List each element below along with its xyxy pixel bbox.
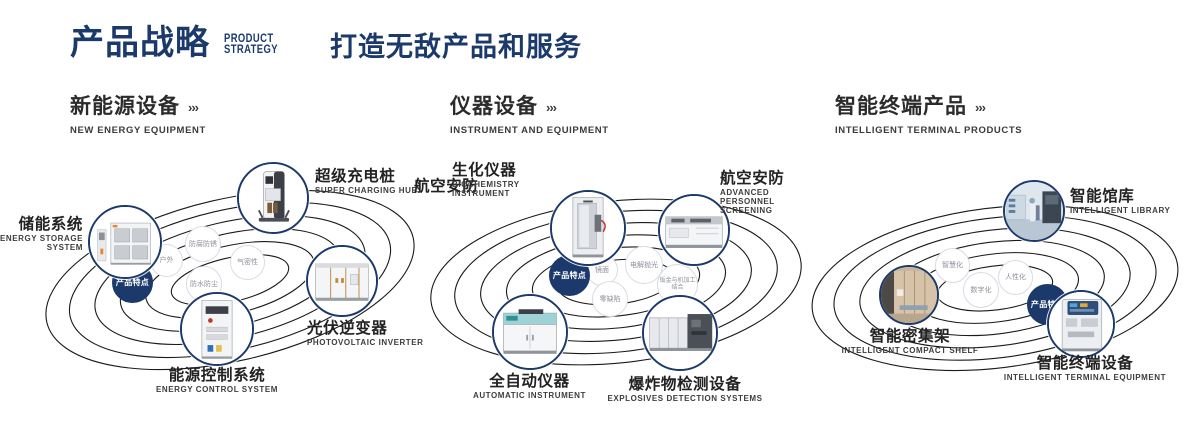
node-circle-terminal-equipment[interactable] (1047, 290, 1115, 358)
control-cabinet-icon (182, 294, 252, 364)
compact-shelf-icon (881, 267, 937, 323)
node-circle-automatic-instrument[interactable] (492, 294, 568, 370)
section-title-en: INTELLIGENT TERMINAL PRODUCTS (835, 125, 1022, 136)
node-circle-energy-control[interactable] (180, 292, 254, 366)
poster-subtitle: 打造无敌产品和服务 (330, 34, 582, 61)
inverter-cabinet-icon (308, 247, 376, 315)
diagram-new-energy: 防腐防锈 户外 气密性 防水防尘 产品特点 储能系统 ENERGY STOR (40, 160, 420, 390)
poster-title-en-line1: PRODUCT (224, 34, 278, 46)
poster-header: 产品战略 PRODUCT STRATEGY (70, 26, 290, 60)
section-heading-instrument: 仪器设备››› INSTRUMENT AND EQUIPMENT (450, 96, 609, 136)
diagram-instrument: 航空安防 电解抛光 镜面 钣金与机加工结合 零缺陷 产品特点 生化仪器 BIOC… (420, 160, 810, 390)
chevron-triple-icon: ››› (188, 100, 198, 115)
node-label-terminal-equipment: 智能终端设备 INTELLIGENT TERMINAL EQUIPMENT (975, 355, 1195, 383)
node-circle-energy-storage[interactable] (88, 205, 162, 279)
feature-bubble: 零缺陷 (592, 281, 628, 317)
security-scanner-icon (552, 192, 624, 264)
node-label-intelligent-library: 智能馆库 INTELLIGENT LIBRARY (1070, 188, 1200, 216)
section-title-en: INSTRUMENT AND EQUIPMENT (450, 125, 609, 136)
screening-machine-icon (660, 196, 728, 264)
auto-analyzer-icon (494, 296, 566, 368)
charging-pile-icon (239, 164, 307, 232)
chevron-triple-icon: ››› (975, 100, 985, 115)
kiosk-terminal-icon (1049, 292, 1113, 356)
battery-cabinet-icon (90, 207, 160, 277)
node-label-compact-shelf: 智能密集架 INTELLIGENT COMPACT SHELF (785, 328, 1035, 356)
feature-bubble: 智慧化 (935, 248, 970, 283)
poster-title-en-line2: STRATEGY (224, 45, 278, 57)
section-title-cn: 新能源设备 (70, 96, 180, 117)
node-circle-photovoltaic-inverter[interactable] (306, 245, 378, 317)
node-label-energy-storage: 储能系统 ENERGY STORAGE SYSTEM (0, 216, 83, 253)
poster-title-cn: 产品战略 (70, 26, 210, 60)
chevron-triple-icon: ››› (546, 100, 556, 115)
section-title-cn: 智能终端产品 (835, 96, 967, 117)
poster-canvas: 产品战略 PRODUCT STRATEGY 打造无敌产品和服务 新能源设备›››… (0, 0, 1200, 422)
feature-bubble: 人性化 (998, 260, 1033, 295)
diagram-intelligent-terminal: 智慧化 人性化 数字化 产品特点 智能馆库 INTELLIGENT LIBRAR… (805, 160, 1195, 395)
feature-bubble: 数字化 (963, 272, 999, 308)
feature-bubble: 气密性 (230, 245, 265, 280)
node-circle-explosives-detection[interactable] (642, 295, 718, 371)
feature-bubble: 防腐防锈 (185, 226, 221, 262)
node-circle-compact-shelf[interactable] (879, 265, 939, 325)
node-circle-biochemistry-instrument[interactable] (550, 190, 626, 266)
explosive-detector-icon (644, 297, 716, 369)
library-room-icon (1005, 182, 1063, 240)
node-label-explosives-detection: 爆炸物检测设备 EXPLOSIVES DETECTION SYSTEMS (570, 376, 800, 404)
node-circle-super-charging-hub[interactable] (237, 162, 309, 234)
section-title-cn: 仪器设备 (450, 96, 538, 117)
section-heading-intelligent-terminal: 智能终端产品››› INTELLIGENT TERMINAL PRODUCTS (835, 96, 1022, 136)
poster-title-en: PRODUCT STRATEGY (224, 34, 278, 60)
node-label-energy-control: 能源控制系统 ENERGY CONTROL SYSTEM (82, 367, 352, 395)
section-heading-new-energy: 新能源设备››› NEW ENERGY EQUIPMENT (70, 96, 206, 136)
section-title-en: NEW ENERGY EQUIPMENT (70, 125, 206, 136)
node-circle-intelligent-library[interactable] (1003, 180, 1065, 242)
node-label-biochemistry-instrument: 生化仪器 BIOCHEMISTRY INSTRUMENT (452, 162, 582, 199)
